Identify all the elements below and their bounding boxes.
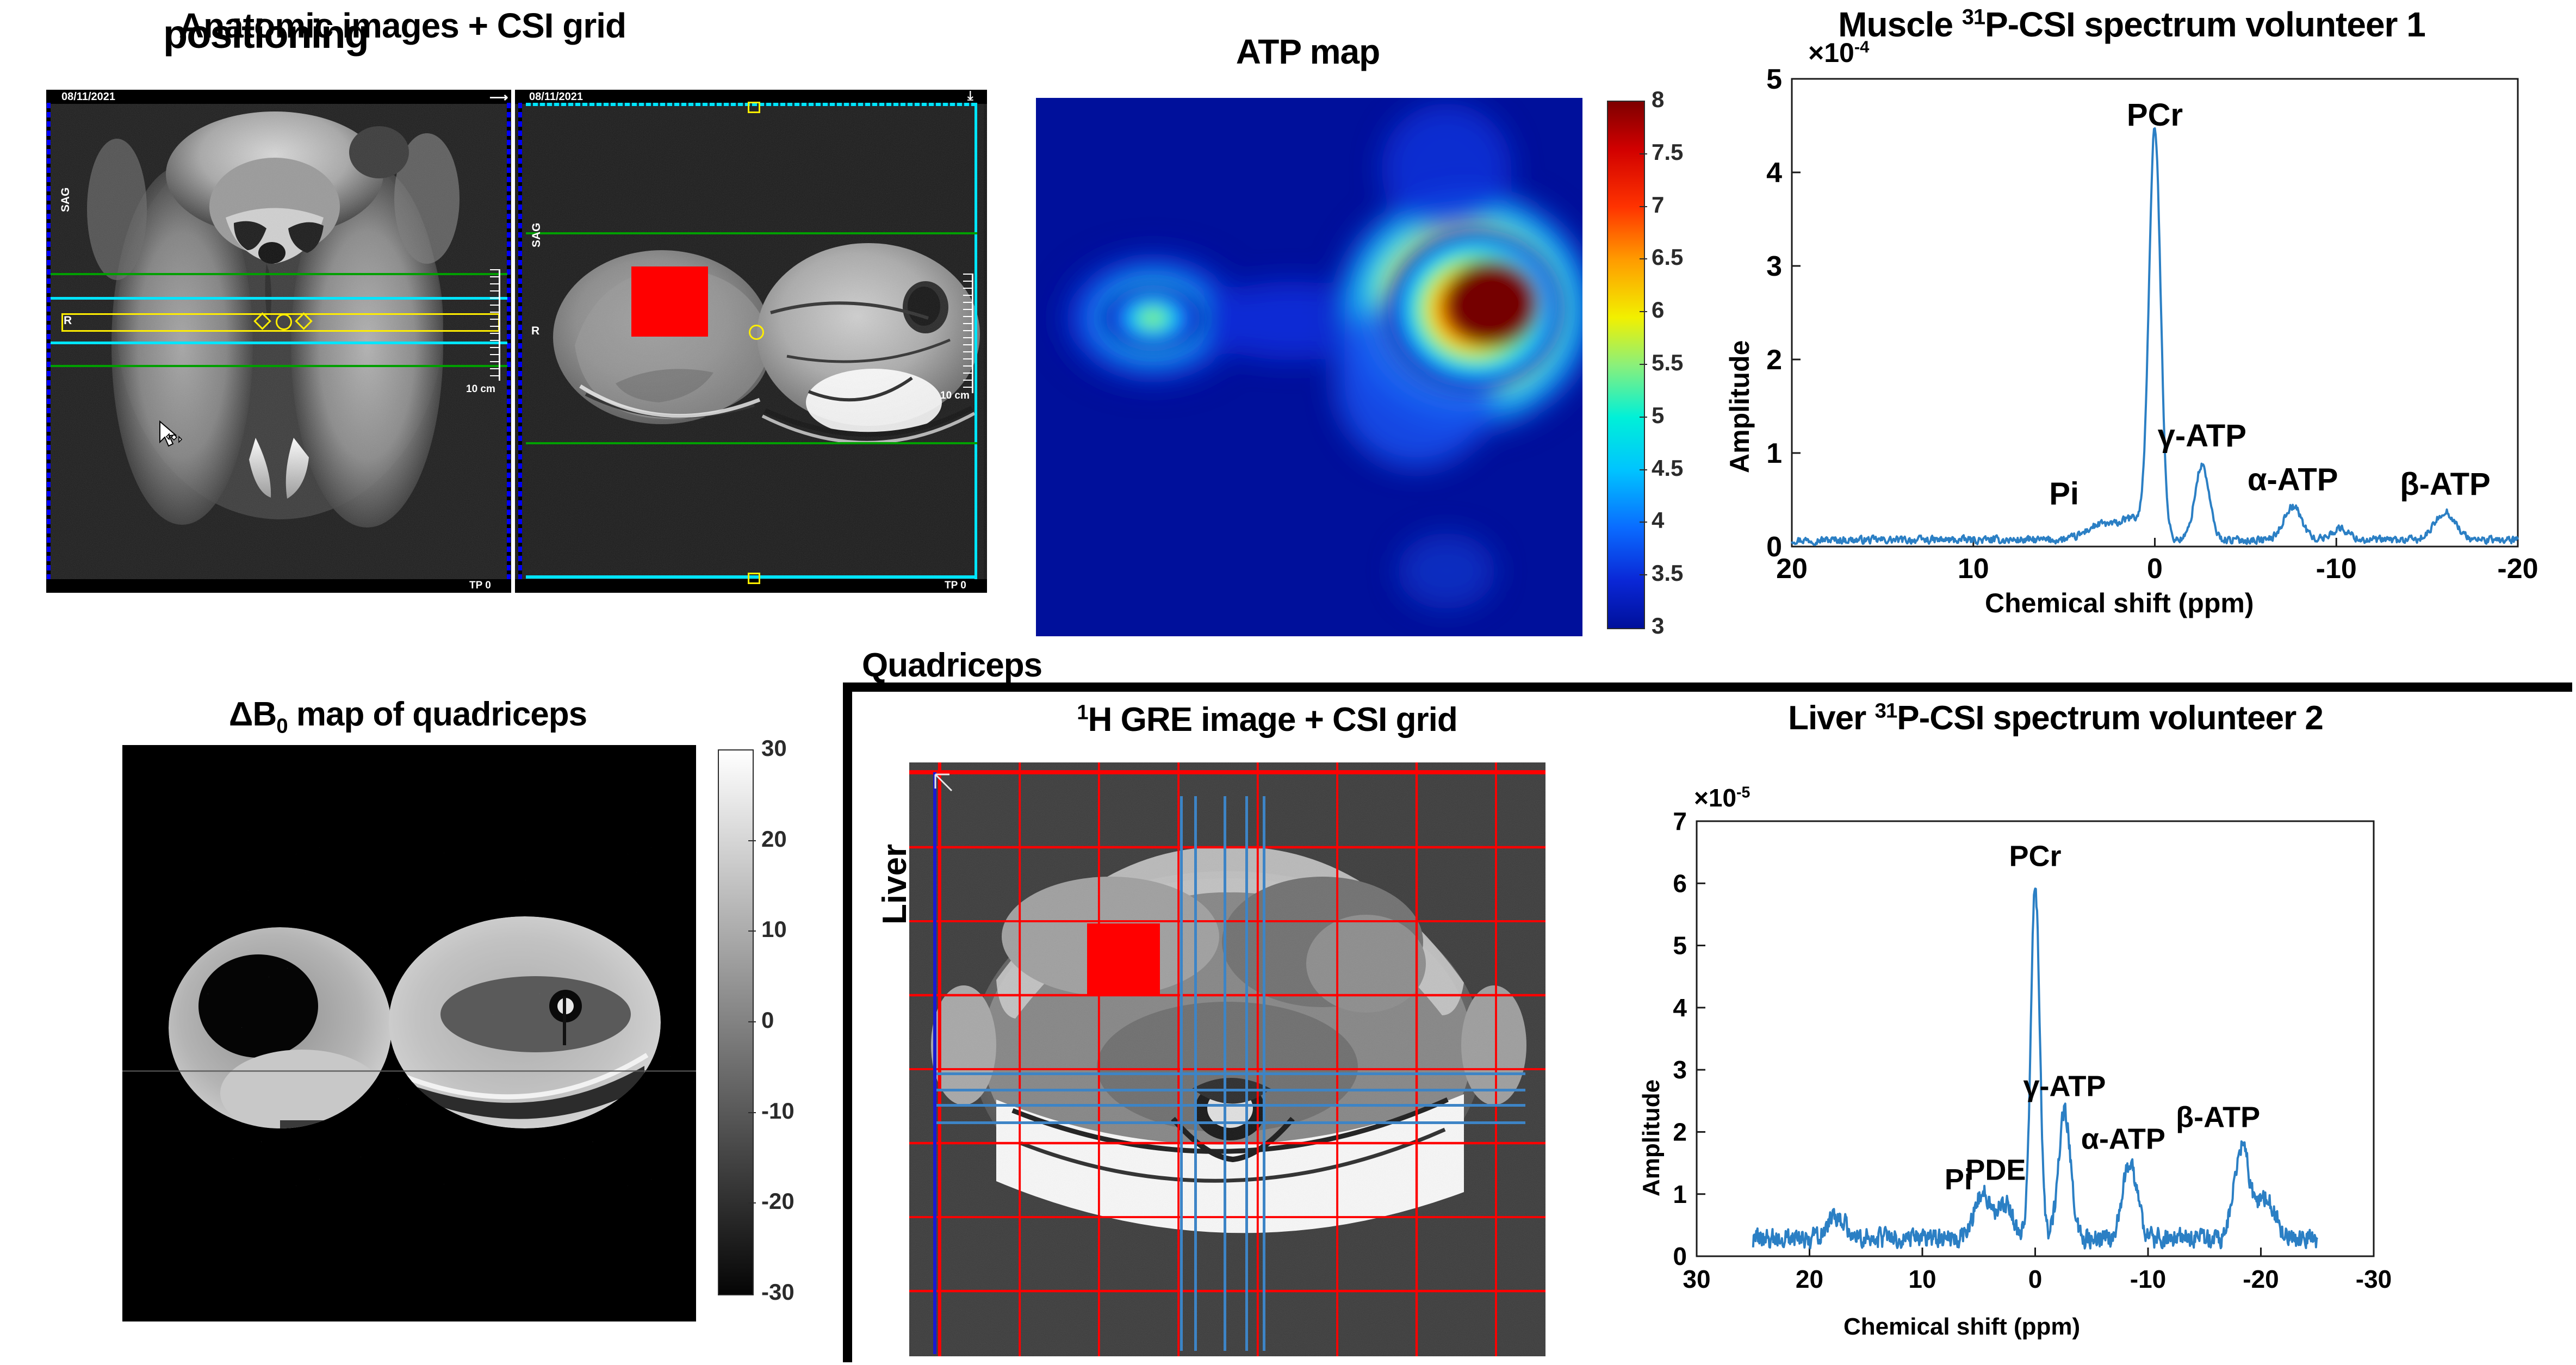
colorbar-tick-mark <box>1640 364 1647 365</box>
nav-arrow-down-icon[interactable]: ⤓ <box>967 90 973 104</box>
y-tick-label: 0 <box>1673 1242 1687 1270</box>
atp-colorbar <box>1607 101 1645 629</box>
colorbar-tick-label: 8 <box>1652 86 1664 113</box>
muscle-y-axis-title: Amplitude <box>1724 340 1755 473</box>
satband-horizontal-2 <box>935 1089 1525 1091</box>
y-tick-label: 5 <box>1766 64 1782 95</box>
slice-line-cyan-top <box>51 297 507 300</box>
satband-horizontal-4 <box>935 1121 1525 1124</box>
muscle-spectrum-panel: ×10-4 Amplitude Chemical shift (ppm) 201… <box>1653 49 2556 631</box>
y-tick-label: 4 <box>1766 157 1782 189</box>
colorbar-tick-mark <box>1640 469 1647 470</box>
axial-handle-bottom[interactable] <box>748 573 760 584</box>
axial-mri-image[interactable]: 08/11/2021 SAG R 10 cm TP 0 ⤓ <box>515 90 987 593</box>
section-label-quadriceps: Quadriceps <box>862 646 1042 685</box>
b0-map-title: ΔB0 map of quadriceps <box>98 695 718 738</box>
gre-title-main: H GRE image + CSI grid <box>1088 701 1457 739</box>
muscle-title-superscript: 31 <box>1962 5 1985 29</box>
scale-ruler-spine <box>499 269 500 381</box>
y-tick-label: 2 <box>1766 344 1782 376</box>
coronal-orientation-r: R <box>64 314 72 327</box>
x-tick-label: 30 <box>1683 1265 1710 1293</box>
gre-title-nucleus: 1 <box>1077 700 1088 724</box>
y-tick-label: 2 <box>1673 1118 1687 1146</box>
y-tick-label: 1 <box>1766 438 1782 469</box>
colorbar-tick-label: 6.5 <box>1652 244 1683 270</box>
atp-map-title: ATP map <box>1036 32 1580 72</box>
slice-line-cyan-bottom <box>51 342 507 344</box>
axial-orientation-sag: SAG <box>530 222 543 247</box>
colorbar-tick-mark <box>1640 153 1647 154</box>
peak-label: γ-ATP <box>2023 1070 2106 1102</box>
coronal-study-date: 08/11/2021 <box>61 91 115 103</box>
peak-label: β-ATP <box>2176 1101 2260 1134</box>
colorbar-tick-label: 20 <box>761 826 787 852</box>
colorbar-tick-mark <box>1640 311 1647 312</box>
coronal-border-right <box>507 103 511 579</box>
colorbar-tick-label: 30 <box>761 735 787 761</box>
colorbar-tick-label: -30 <box>761 1279 794 1305</box>
liver-title-prefix: Liver <box>1788 699 1874 737</box>
liver-title-superscript: 31 <box>1875 699 1897 722</box>
colorbar-tick-label: 0 <box>761 1007 774 1033</box>
colorbar-tick-mark <box>1640 522 1647 523</box>
b0-map-image[interactable] <box>122 745 696 1321</box>
x-tick-label: -30 <box>2356 1265 2392 1293</box>
pointer-arrow-icon <box>933 772 960 799</box>
colorbar-tick-mark <box>1640 206 1647 207</box>
colorbar-tick-label: 5.5 <box>1652 350 1683 376</box>
peak-label: Pi <box>1945 1163 1972 1196</box>
axial-study-date: 08/11/2021 <box>529 91 583 103</box>
b0-map-panel <box>122 745 696 1321</box>
y-tick-label: 4 <box>1673 994 1687 1022</box>
satband-horizontal-3 <box>935 1104 1525 1107</box>
image-border-left-blue <box>933 772 936 1354</box>
anatomic-panel-title: Anatomic images + CSI grid <box>0 5 805 46</box>
colorbar-tick-label: 5 <box>1652 402 1664 429</box>
colorbar-tick-mark <box>1640 258 1647 259</box>
liver-y-exponent: ×10-5 <box>1694 783 1750 812</box>
peak-label: Pi <box>2049 476 2079 511</box>
csi-voxel-box-axial[interactable] <box>631 266 708 337</box>
peak-label: PCr <box>2009 840 2061 873</box>
liver-title-suffix: P-CSI spectrum volunteer 2 <box>1897 699 2323 737</box>
axial-handle-top[interactable] <box>748 102 760 113</box>
colorbar-tick-label: 6 <box>1652 297 1664 323</box>
section-divider-vertical <box>843 682 852 1362</box>
colorbar-tick-label: -20 <box>761 1188 794 1214</box>
coronal-table-position: TP 0 <box>469 580 491 592</box>
colorbar-tick-mark <box>748 1202 756 1203</box>
peak-label: β-ATP <box>2400 467 2490 502</box>
x-tick-label: -20 <box>2497 553 2538 585</box>
axial-scale-ruler-spine <box>972 274 973 393</box>
colorbar-tick-label: 7 <box>1652 192 1664 218</box>
y-tick-label: 3 <box>1766 251 1782 282</box>
csi-voxel-box-liver[interactable] <box>1087 923 1160 994</box>
muscle-y-exponent: ×10-4 <box>1808 37 1869 69</box>
b0-title-prefix: ΔB <box>229 696 276 733</box>
colorbar-tick-label: 7.5 <box>1652 139 1683 165</box>
x-tick-label: 0 <box>2028 1265 2043 1293</box>
x-tick-label: -20 <box>2243 1265 2279 1293</box>
atp-map-heatmap[interactable] <box>1036 98 1582 636</box>
peak-label: α-ATP <box>2081 1123 2165 1156</box>
gre-liver-title: 1H GRE image + CSI grid <box>924 700 1610 739</box>
colorbar-tick-mark <box>748 930 756 932</box>
slice-line-green-top <box>51 273 507 275</box>
y-tick-label: 0 <box>1766 531 1782 563</box>
colorbar-tick-mark <box>1640 417 1647 418</box>
colorbar-tick-label: -10 <box>761 1098 794 1124</box>
y-tick-label: 1 <box>1673 1180 1687 1208</box>
positioning-overlay-label: positioning <box>163 11 368 57</box>
axial-border-right-cyan <box>974 103 977 579</box>
x-tick-label: -10 <box>2316 553 2357 585</box>
muscle-y-exponent-base: ×10 <box>1808 38 1854 68</box>
axial-slice-green-top <box>526 232 977 234</box>
x-tick-label: 10 <box>1908 1265 1936 1293</box>
muscle-y-exponent-power: -4 <box>1854 37 1870 56</box>
x-tick-label: 20 <box>1796 1265 1823 1293</box>
muscle-title-suffix: P-CSI spectrum volunteer 1 <box>1985 5 2425 44</box>
satband-horizontal-1 <box>935 1072 1525 1075</box>
y-tick-label: 7 <box>1673 807 1687 835</box>
colorbar-tick-mark <box>1640 574 1647 575</box>
coronal-orientation-sag: SAG <box>59 187 72 212</box>
slice-handle-circle[interactable] <box>276 314 292 330</box>
colorbar-tick-mark <box>748 1112 756 1113</box>
axial-orientation-r: R <box>531 325 539 338</box>
muscle-spectrum-plot[interactable]: 20100-10-20012345PCrγ-ATPPiα-ATPβ-ATP <box>1653 49 2556 631</box>
liver-spectrum-panel: ×10-5 Amplitude Chemical shift (ppm) 302… <box>1604 761 2420 1365</box>
axial-scale-label: 10 cm <box>940 390 970 402</box>
coronal-mri-image[interactable]: 08/11/2021 SAG R 10 cm TP 0 ⟶ <box>46 90 511 593</box>
gre-liver-image[interactable] <box>909 762 1545 1356</box>
coronal-scale-label: 10 cm <box>466 383 495 395</box>
axial-slice-green-bottom <box>526 442 977 444</box>
peak-label: α-ATP <box>2248 462 2338 498</box>
colorbar-tick-mark <box>748 1021 756 1022</box>
mouse-cursor-icon <box>158 420 190 454</box>
axial-border-left-dashed <box>518 103 522 579</box>
muscle-x-axis-title: Chemical shift (ppm) <box>1985 587 2254 619</box>
colorbar-tick-label: 3 <box>1652 613 1664 639</box>
x-tick-label: 0 <box>2147 553 2163 585</box>
section-label-liver: Liver <box>876 844 914 925</box>
y-tick-label: 6 <box>1673 869 1687 897</box>
peak-label: PDE <box>1965 1154 2026 1187</box>
spectrum-trace <box>1753 889 2317 1249</box>
liver-y-exponent-base: ×10 <box>1694 784 1736 812</box>
nav-arrow-right-icon[interactable]: ⟶ <box>489 90 508 106</box>
anatomic-images-panel: 08/11/2021 SAG R 10 cm TP 0 ⟶ <box>46 90 987 593</box>
section-divider-horizontal <box>843 682 2572 692</box>
x-tick-label: 10 <box>1958 553 1989 585</box>
peak-label: γ-ATP <box>2158 418 2246 454</box>
axial-table-position: TP 0 <box>945 580 966 592</box>
liver-x-axis-title: Chemical shift (ppm) <box>1843 1313 2080 1341</box>
colorbar-tick-label: 4.5 <box>1652 455 1683 481</box>
axial-center-circle[interactable] <box>749 325 764 340</box>
b0-colorbar <box>718 749 754 1295</box>
y-tick-label: 3 <box>1673 1056 1687 1084</box>
y-tick-label: 5 <box>1673 932 1687 960</box>
b0-title-suffix: map of quadriceps <box>288 696 587 733</box>
atp-map-panel <box>1036 98 1582 636</box>
colorbar-tick-label: 4 <box>1652 507 1664 533</box>
x-tick-label: -10 <box>2130 1265 2166 1293</box>
slice-line-green-bottom <box>51 365 507 367</box>
coronal-border-left <box>47 103 51 579</box>
plot-frame <box>1697 821 2374 1256</box>
colorbar-tick-mark <box>748 840 756 841</box>
liver-spectrum-plot[interactable]: 3020100-10-20-3001234567PCrγ-ATPα-ATPβ-A… <box>1604 761 2420 1365</box>
b0-title-subscript: 0 <box>276 714 287 737</box>
peak-label: PCr <box>2127 97 2183 133</box>
colorbar-tick-label: 10 <box>761 916 787 942</box>
liver-spectrum-title: Liver 31P-CSI spectrum volunteer 2 <box>1621 699 2491 737</box>
colorbar-tick-label: 3.5 <box>1652 560 1683 586</box>
csi-grid-overlay <box>909 762 1545 1356</box>
liver-y-exponent-power: -5 <box>1736 784 1750 802</box>
liver-y-axis-title: Amplitude <box>1638 1079 1665 1196</box>
